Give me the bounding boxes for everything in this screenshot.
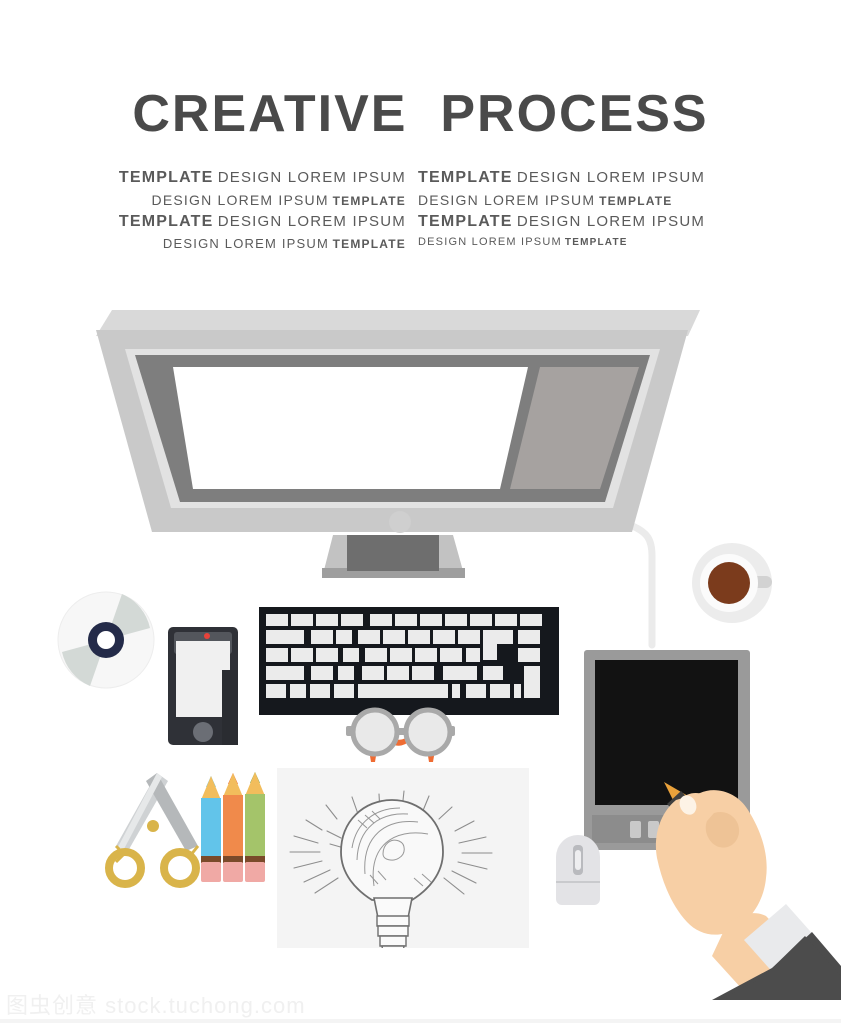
pencil-ferrule bbox=[245, 856, 265, 863]
design-phrase: DESIGN LOREM IPSUM bbox=[517, 213, 705, 230]
lorem-line: DESIGN LOREM IPSUM TEMPLATE bbox=[118, 193, 406, 207]
scissors-pivot bbox=[147, 820, 159, 832]
pencil-body bbox=[245, 794, 265, 859]
phone-screen bbox=[176, 641, 230, 717]
smartphone bbox=[168, 627, 238, 745]
poster-canvas: CREATIVE PROCESS TEMPLATE DESIGN LOREM I… bbox=[0, 0, 841, 1023]
tablet-button-1 bbox=[630, 821, 641, 838]
template-word: TEMPLATE bbox=[565, 237, 628, 248]
template-word: TEMPLATE bbox=[333, 237, 406, 251]
lorem-line: TEMPLATE DESIGN LOREM IPSUM bbox=[118, 170, 406, 186]
lorem-line: TEMPLATE DESIGN LOREM IPSUM bbox=[118, 214, 406, 230]
pencil-ferrule bbox=[223, 856, 243, 863]
lorem-text-block-right: TEMPLATE DESIGN LOREM IPSUM DESIGN LOREM… bbox=[418, 170, 706, 248]
scissors bbox=[109, 773, 198, 884]
pencil-body bbox=[223, 795, 243, 859]
computer-mouse[interactable] bbox=[556, 835, 600, 905]
monitor-cable bbox=[630, 525, 652, 645]
scissors-blade-left-edge bbox=[118, 773, 162, 849]
eyeglasses bbox=[346, 710, 455, 762]
pencil-ferrule bbox=[201, 856, 221, 863]
pencil-body bbox=[201, 798, 221, 860]
lorem-line: DESIGN LOREM IPSUM TEMPLATE bbox=[418, 237, 706, 248]
scissors-ring-left bbox=[109, 852, 141, 884]
watermark-divider bbox=[0, 1019, 841, 1023]
power-indicator-dot bbox=[389, 511, 411, 533]
pencil-blue bbox=[201, 776, 221, 882]
lorem-line: DESIGN LOREM IPSUM TEMPLATE bbox=[418, 193, 706, 207]
coffee-cup-top-view bbox=[692, 543, 772, 623]
hand-holding-stylus bbox=[656, 782, 841, 1000]
design-phrase: DESIGN LOREM IPSUM bbox=[218, 169, 406, 186]
design-phrase: DESIGN LOREM IPSUM bbox=[517, 169, 705, 186]
phone-home-button bbox=[193, 722, 213, 742]
monitor-screen bbox=[173, 367, 528, 489]
page-title: CREATIVE PROCESS bbox=[0, 84, 841, 144]
phone-camera-led bbox=[204, 633, 210, 639]
monitor-stand-neck bbox=[347, 535, 439, 571]
sketch-bulb-neck bbox=[374, 898, 412, 918]
lorem-line: TEMPLATE DESIGN LOREM IPSUM bbox=[418, 170, 706, 186]
desktop-monitor bbox=[96, 310, 700, 578]
design-phrase: DESIGN LOREM IPSUM bbox=[163, 236, 329, 251]
template-word: TEMPLATE bbox=[333, 194, 406, 208]
keyboard bbox=[259, 607, 559, 715]
tablet-surface bbox=[595, 660, 738, 805]
compact-disc bbox=[58, 592, 154, 688]
pencil-tip-wood bbox=[245, 772, 265, 796]
lorem-line: DESIGN LOREM IPSUM TEMPLATE bbox=[118, 237, 406, 250]
phone-body-shadow bbox=[222, 670, 238, 745]
template-word: TEMPLATE bbox=[119, 213, 214, 230]
glasses-lens-left bbox=[353, 710, 397, 754]
pencil-eraser bbox=[223, 862, 243, 882]
disc-hole bbox=[97, 631, 115, 649]
mouse-wheel bbox=[575, 850, 581, 870]
desk-workspace-illustration bbox=[0, 300, 841, 1000]
design-phrase: DESIGN LOREM IPSUM bbox=[418, 192, 595, 208]
colored-pencils bbox=[201, 772, 265, 882]
lorem-line: TEMPLATE DESIGN LOREM IPSUM bbox=[418, 214, 706, 230]
lorem-text-block-left: TEMPLATE DESIGN LOREM IPSUM DESIGN LOREM… bbox=[118, 170, 406, 250]
design-phrase: DESIGN LOREM IPSUM bbox=[152, 192, 329, 208]
glasses-lens-right bbox=[406, 710, 450, 754]
sketch-paper bbox=[277, 768, 529, 956]
pencil-tip-wood bbox=[201, 776, 221, 800]
pencil-orange bbox=[223, 773, 243, 882]
coffee-liquid bbox=[708, 562, 750, 604]
sketch-screw-base bbox=[377, 916, 409, 956]
template-word: TEMPLATE bbox=[418, 169, 513, 186]
template-word: TEMPLATE bbox=[599, 194, 672, 208]
pencil-eraser bbox=[245, 862, 265, 882]
mouse-seam bbox=[556, 881, 600, 883]
pencil-green bbox=[245, 772, 265, 882]
design-phrase: DESIGN LOREM IPSUM bbox=[218, 213, 406, 230]
stock-watermark: 图虫创意 stock.tuchong.com bbox=[6, 988, 306, 1020]
template-word: TEMPLATE bbox=[119, 169, 214, 186]
pencil-eraser bbox=[201, 862, 221, 882]
pencil-tip-wood bbox=[223, 773, 243, 797]
design-phrase: DESIGN LOREM IPSUM bbox=[418, 236, 562, 248]
template-word: TEMPLATE bbox=[418, 213, 513, 230]
